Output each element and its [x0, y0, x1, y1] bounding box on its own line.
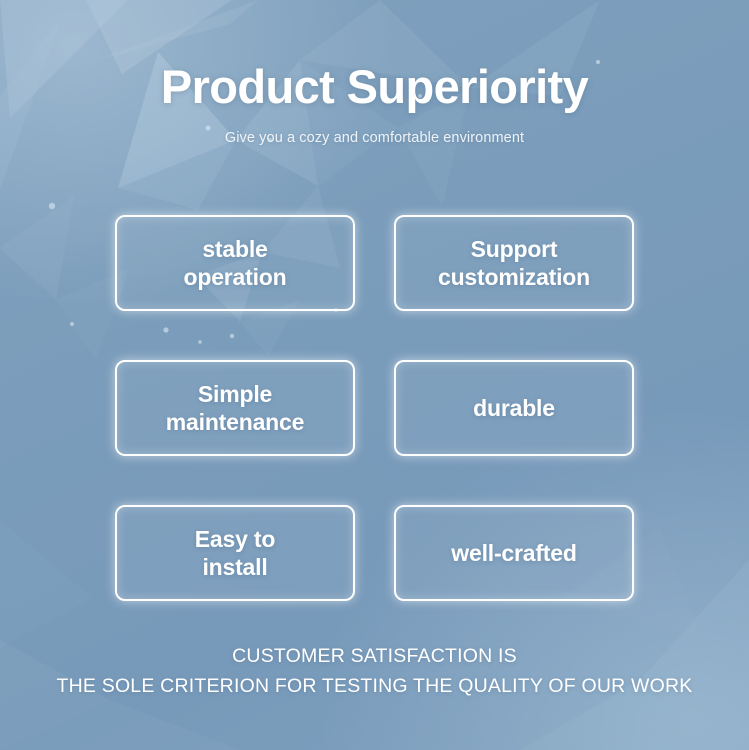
feature-card-stable-operation[interactable]: stable operation — [115, 215, 355, 311]
feature-card-durable[interactable]: durable — [394, 360, 634, 456]
poster-header: Product Superiority Give you a cozy and … — [0, 0, 749, 146]
poster-footer: CUSTOMER SATISFACTION IS THE SOLE CRITER… — [0, 641, 749, 701]
feature-card-label: Easy to install — [195, 525, 275, 581]
feature-card-well-crafted[interactable]: well-crafted — [394, 505, 634, 601]
feature-card-label: stable operation — [184, 235, 287, 291]
feature-card-easy-to-install[interactable]: Easy to install — [115, 505, 355, 601]
footer-line-1: CUSTOMER SATISFACTION IS — [0, 641, 749, 671]
feature-card-label: Support customization — [438, 235, 590, 291]
page-subtitle: Give you a cozy and comfortable environm… — [0, 130, 749, 146]
footer-line-2: THE SOLE CRITERION FOR TESTING THE QUALI… — [0, 671, 749, 701]
product-superiority-poster: Product Superiority Give you a cozy and … — [0, 0, 749, 750]
feature-card-simple-maintenance[interactable]: Simple maintenance — [115, 360, 355, 456]
feature-card-grid: stable operation Support customization S… — [115, 215, 634, 601]
feature-card-label: well-crafted — [451, 539, 576, 567]
feature-card-label: Simple maintenance — [166, 380, 304, 436]
page-title: Product Superiority — [0, 62, 749, 111]
feature-card-support-customization[interactable]: Support customization — [394, 215, 634, 311]
feature-card-label: durable — [473, 394, 555, 422]
